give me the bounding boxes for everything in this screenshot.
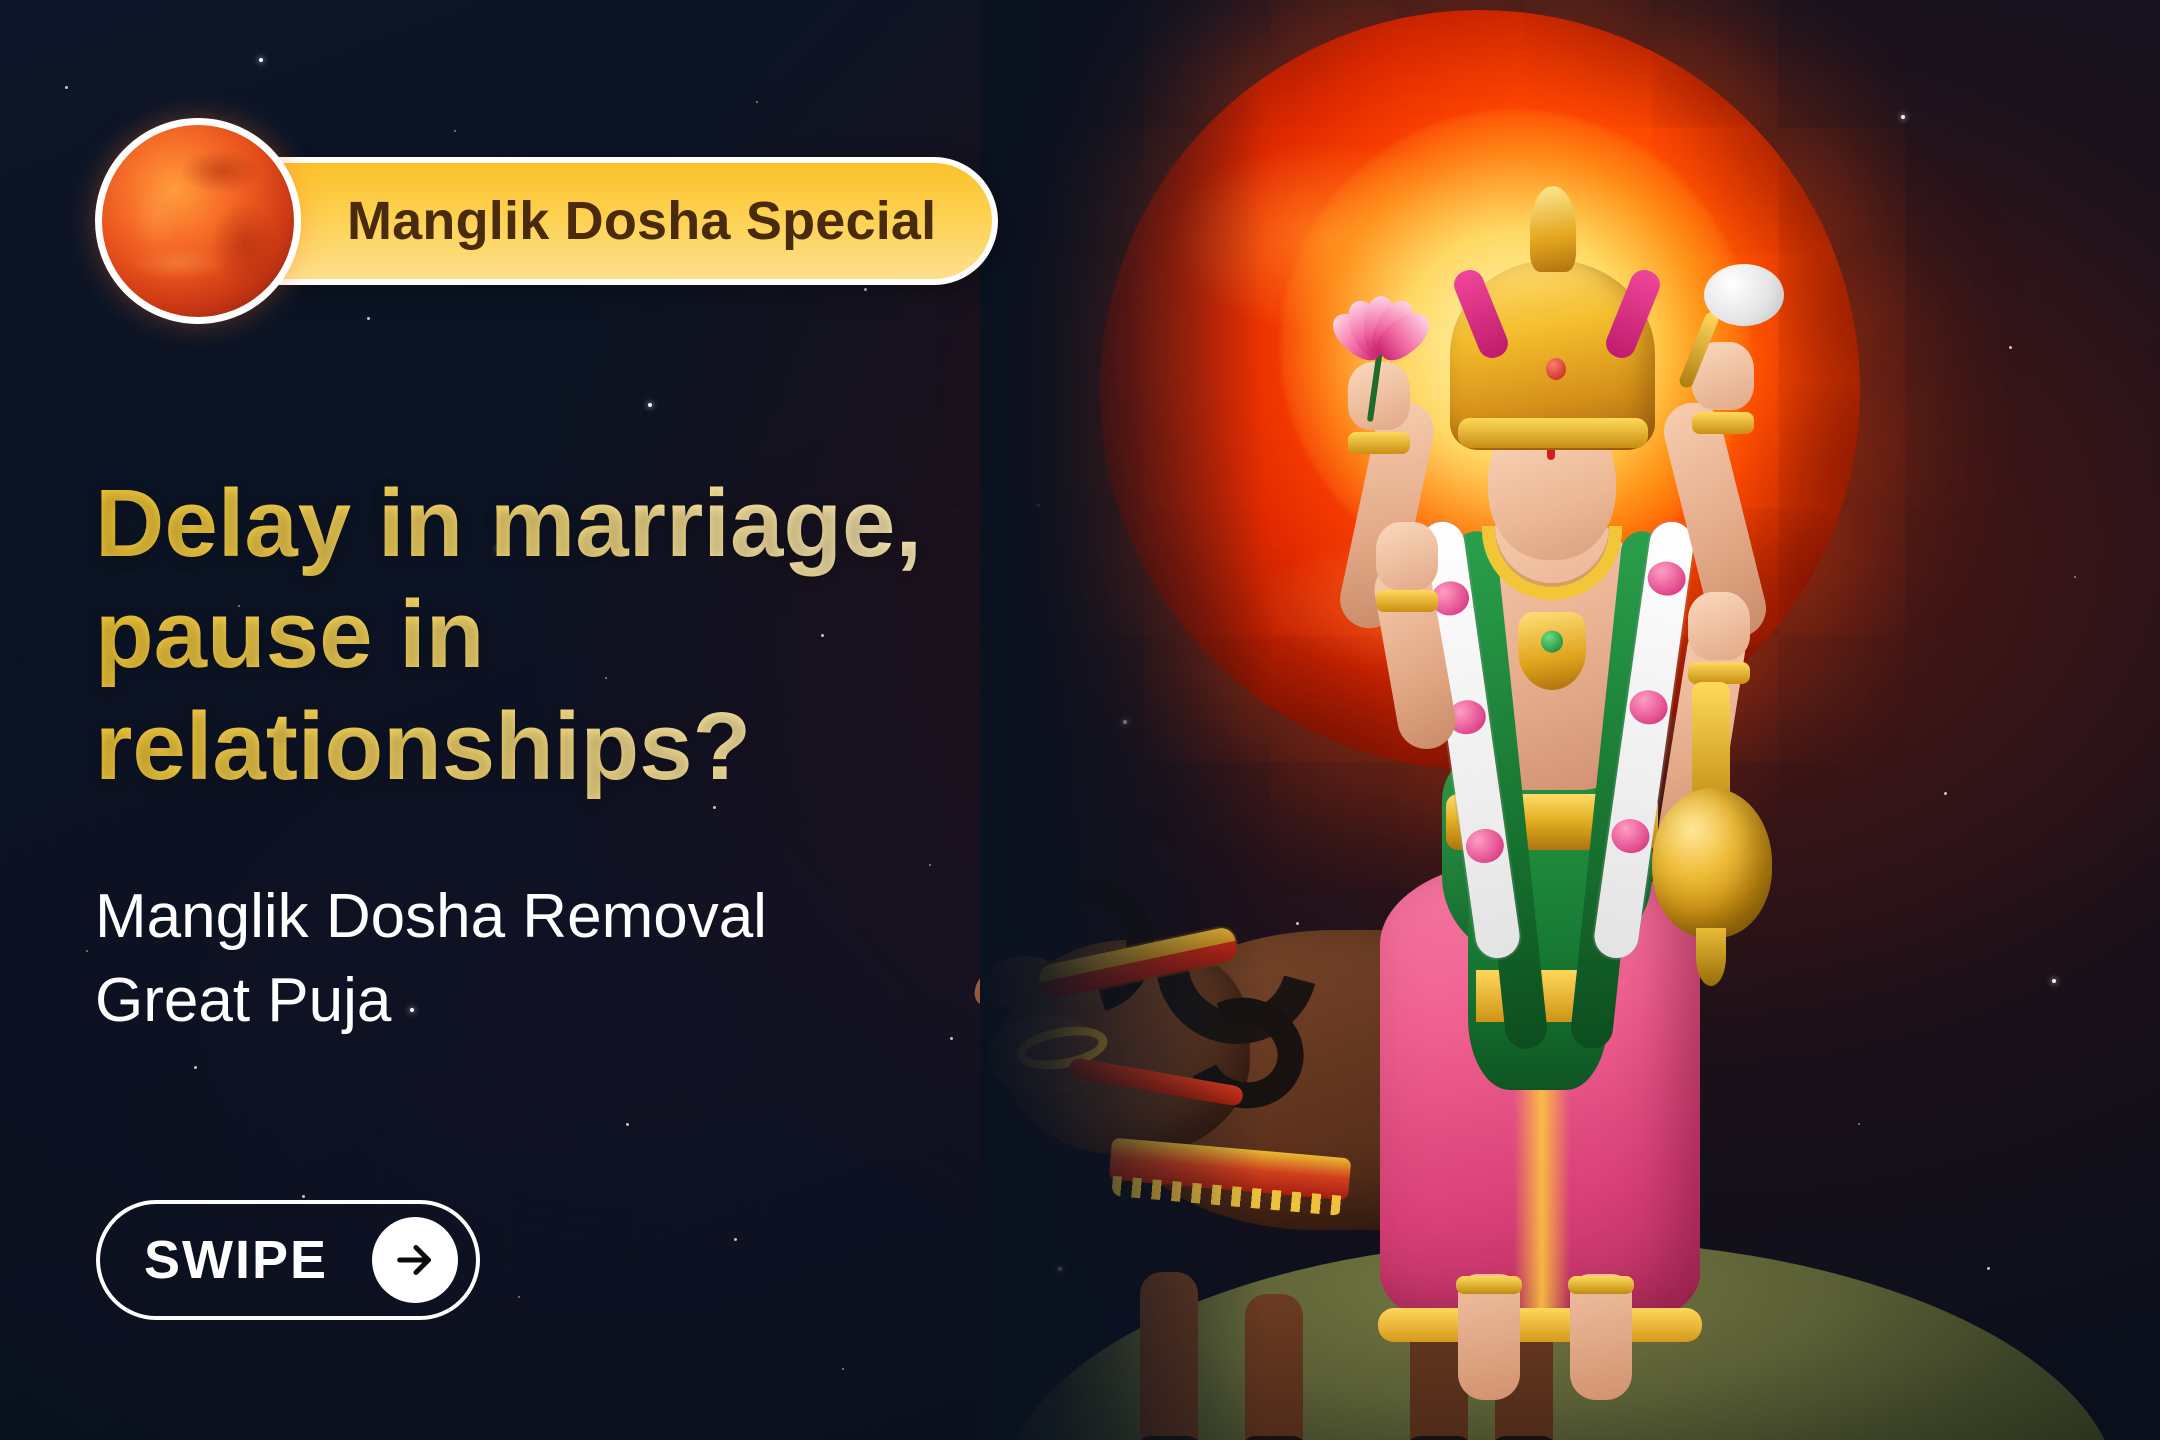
mirror-icon (1704, 264, 1784, 326)
page-title: Delay in marriage, pause in relationship… (95, 468, 1045, 802)
badge: Manglik Dosha Special (95, 118, 998, 324)
golden-mace-icon (1652, 788, 1772, 938)
lotus-flower-icon (1326, 274, 1434, 360)
mars-planet-icon (95, 118, 301, 324)
subheading-line-2: Great Puja (95, 959, 1045, 1043)
arrow-right-icon[interactable] (372, 1217, 458, 1303)
badge-pill: Manglik Dosha Special (215, 157, 998, 285)
lord-mangal-figure (1300, 80, 1820, 1390)
swipe-button-label: SWIPE (144, 1229, 328, 1291)
swipe-button[interactable]: SWIPE (96, 1200, 480, 1320)
manglik-dosha-promo-banner: Manglik Dosha Special Delay in marriage,… (0, 0, 2160, 1440)
content-column: Manglik Dosha Special Delay in marriage,… (0, 0, 1160, 1440)
subheading: Manglik Dosha Removal Great Puja (95, 875, 1045, 1042)
badge-label: Manglik Dosha Special (347, 190, 936, 252)
headline-line-3: relationships? (95, 691, 1045, 802)
headline-line-1: Delay in marriage, (95, 468, 1045, 579)
subheading-line-1: Manglik Dosha Removal (95, 875, 1045, 959)
headline-line-2: pause in (95, 579, 1045, 690)
